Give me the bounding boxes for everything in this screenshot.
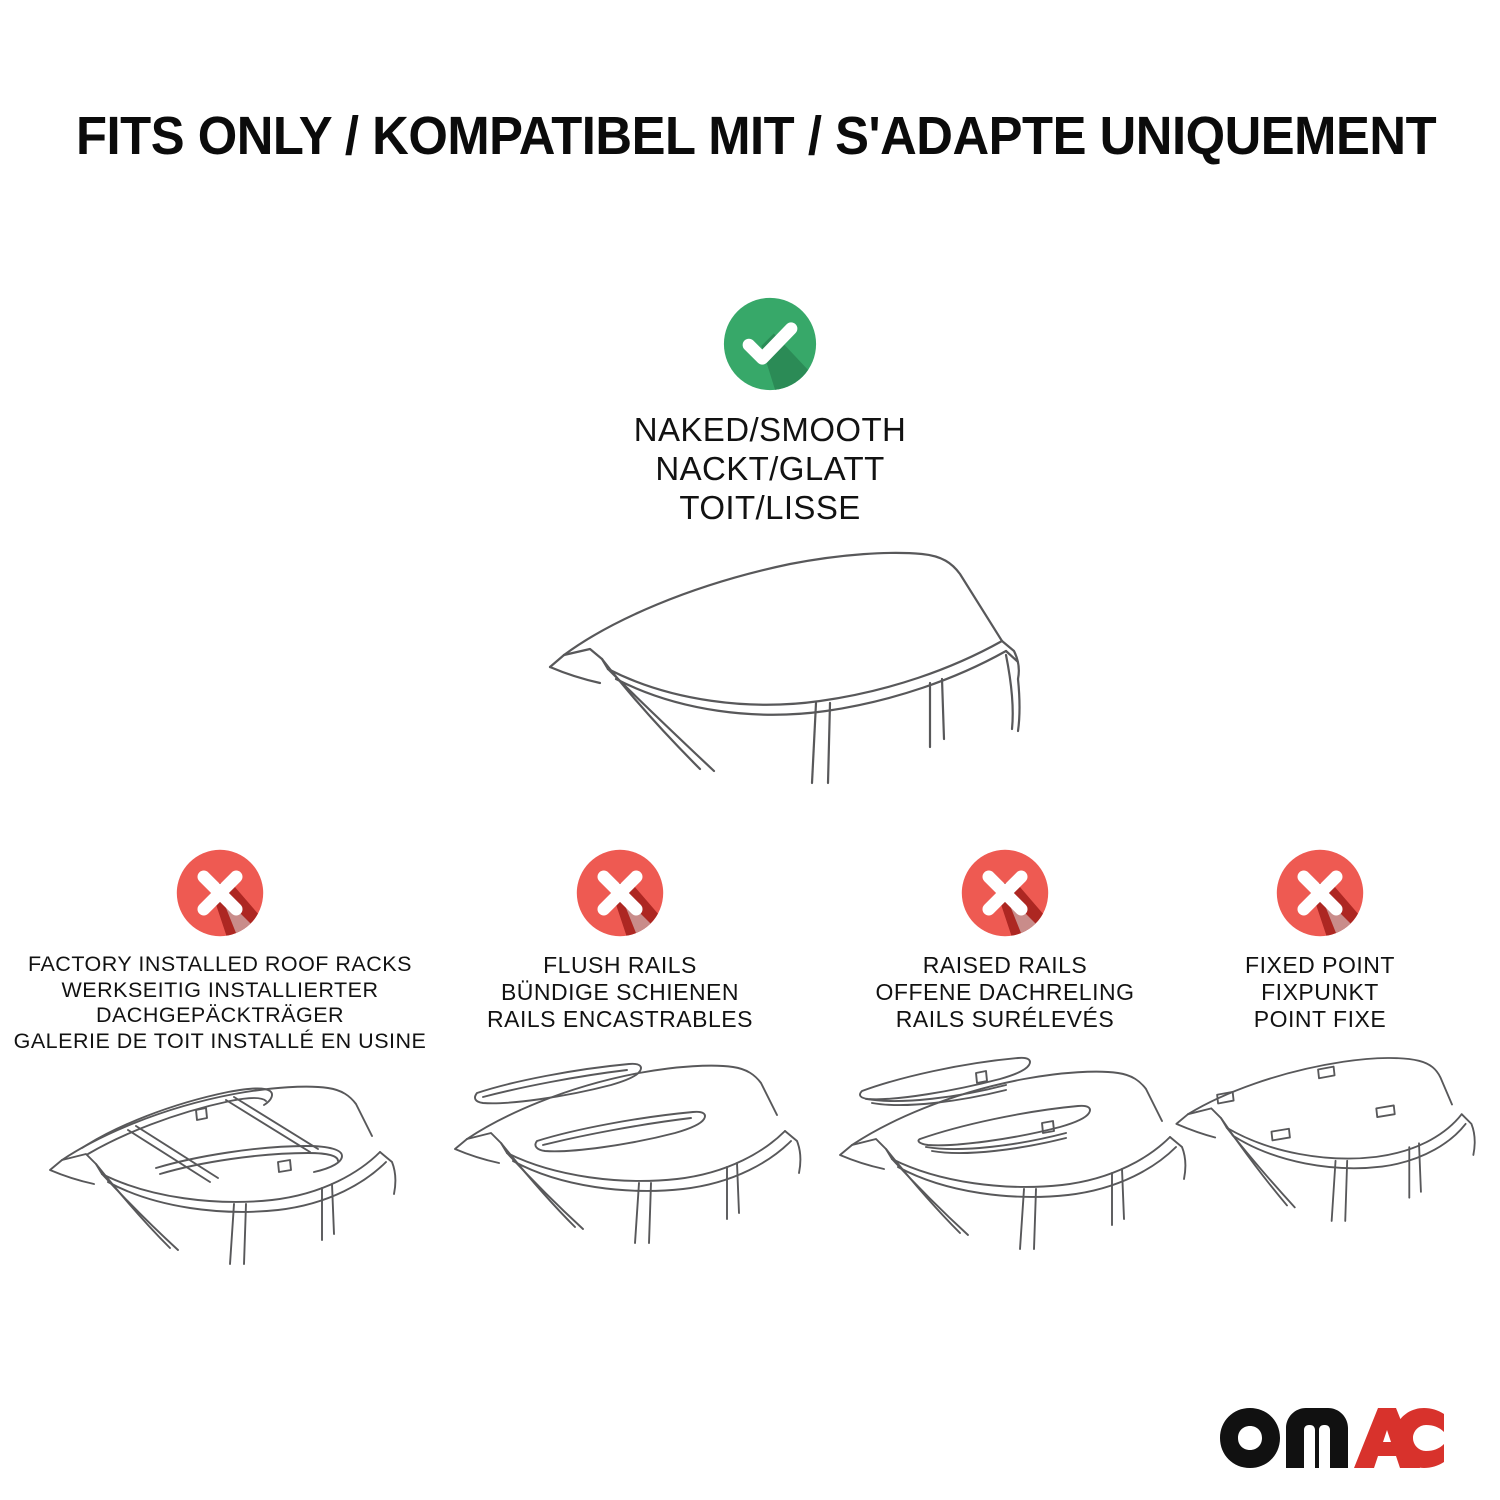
incompatible-roof-type-labels: FACTORY INSTALLED ROOF RACKS WERKSEITIG … — [10, 952, 430, 1054]
incompatible-roof-type-labels: FIXED POINT FIXPUNKT POINT FIXE — [1155, 952, 1485, 1033]
label-line-fr: GALERIE DE TOIT INSTALLÉ EN USINE — [10, 1029, 430, 1055]
label-line-en: FLUSH RAILS — [425, 952, 815, 979]
label-line-fr: RAILS SURÉLEVÉS — [810, 1006, 1200, 1033]
car-roof-fixed-point-illustration — [1155, 1043, 1485, 1263]
label-line-de: BÜNDIGE SCHIENEN — [425, 979, 815, 1006]
label-line-de-1: WERKSEITIG INSTALLIERTER — [10, 978, 430, 1004]
label-line-fr: TOIT/LISSE — [440, 488, 1100, 527]
label-line-en: NAKED/SMOOTH — [440, 410, 1100, 449]
check-circle-icon — [722, 296, 818, 392]
car-roof-raised-rails-illustration — [810, 1043, 1210, 1263]
cross-circle-icon — [960, 848, 1050, 938]
label-line-de: OFFENE DACHRELING — [810, 979, 1200, 1006]
car-roof-naked-smooth-illustration — [490, 533, 1050, 803]
label-line-fr: POINT FIXE — [1155, 1006, 1485, 1033]
compatible-roof-type-card: NAKED/SMOOTH NACKT/GLATT TOIT/LISSE — [440, 296, 1100, 808]
infographic-canvas: FITS ONLY / KOMPATIBEL MIT / S'ADAPTE UN… — [0, 0, 1500, 1500]
car-roof-factory-rack-illustration — [20, 1064, 420, 1284]
incompatible-roof-type-card: FACTORY INSTALLED ROOF RACKS WERKSEITIG … — [10, 848, 430, 1289]
label-line-en: RAISED RAILS — [810, 952, 1200, 979]
incompatible-roof-type-card: FLUSH RAILS BÜNDIGE SCHIENEN RAILS ENCAS… — [425, 848, 815, 1268]
incompatible-roof-type-labels: RAISED RAILS OFFENE DACHRELING RAILS SUR… — [810, 952, 1200, 1033]
label-line-de-2: DACHGEPÄCKTRÄGER — [10, 1003, 430, 1029]
label-line-en: FACTORY INSTALLED ROOF RACKS — [10, 952, 430, 978]
omac-logo — [1216, 1404, 1448, 1476]
incompatible-roof-type-card: FIXED POINT FIXPUNKT POINT FIXE — [1155, 848, 1485, 1268]
page-title: FITS ONLY / KOMPATIBEL MIT / S'ADAPTE UN… — [76, 104, 1354, 168]
label-line-en: FIXED POINT — [1155, 952, 1485, 979]
cross-circle-icon — [1275, 848, 1365, 938]
incompatible-roof-type-labels: FLUSH RAILS BÜNDIGE SCHIENEN RAILS ENCAS… — [425, 952, 815, 1033]
car-roof-flush-rails-illustration — [425, 1043, 825, 1263]
compatible-roof-type-labels: NAKED/SMOOTH NACKT/GLATT TOIT/LISSE — [440, 410, 1100, 527]
label-line-de: NACKT/GLATT — [440, 449, 1100, 488]
label-line-de: FIXPUNKT — [1155, 979, 1485, 1006]
label-line-fr: RAILS ENCASTRABLES — [425, 1006, 815, 1033]
incompatible-roof-type-card: RAISED RAILS OFFENE DACHRELING RAILS SUR… — [810, 848, 1200, 1268]
cross-circle-icon — [175, 848, 265, 938]
cross-circle-icon — [575, 848, 665, 938]
